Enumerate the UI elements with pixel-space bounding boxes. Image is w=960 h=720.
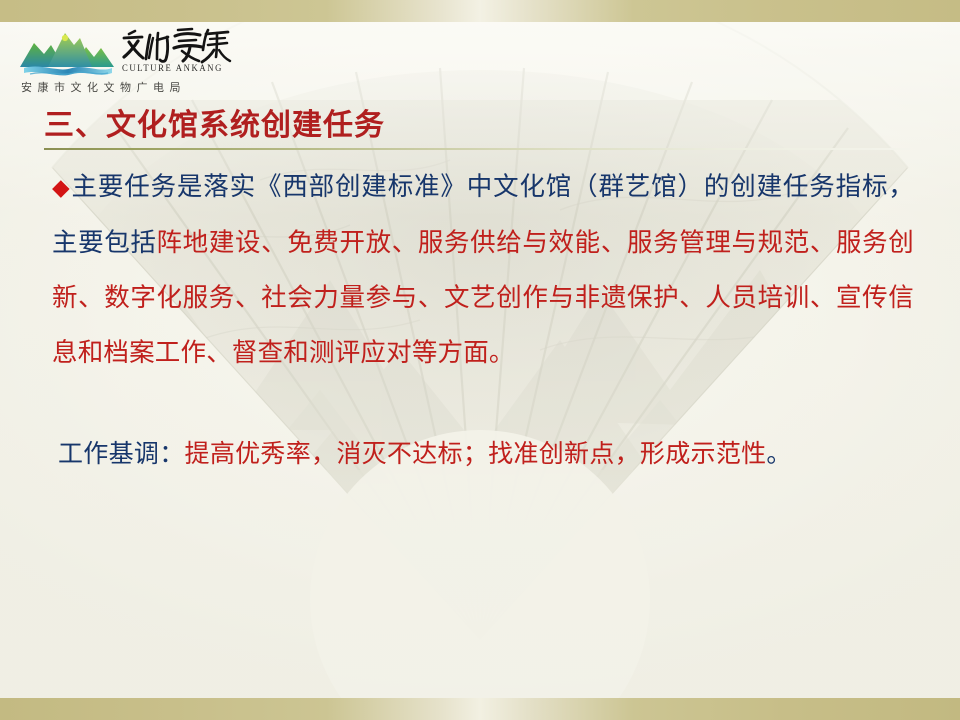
title-block: 三、文化馆系统创建任务	[44, 108, 924, 150]
body-block: ◆主要任务是落实《西部创建标准》中文化馆（群艺馆）的创建任务指标，主要包括阵地建…	[52, 160, 914, 381]
diamond-bullet-icon: ◆	[52, 175, 71, 201]
logo-latin-text: CULTURE ANKANG	[122, 63, 230, 73]
bottom-gold-band	[0, 698, 960, 720]
mountain-logo-icon	[18, 27, 118, 79]
tone-terminator: 。	[766, 439, 791, 468]
tone-label: 工作基调：	[58, 439, 185, 468]
main-paragraph: ◆主要任务是落实《西部创建标准》中文化馆（群艺馆）的创建任务指标，主要包括阵地建…	[52, 160, 914, 381]
logo-org-name: 安康市文化文物广电局	[21, 79, 231, 95]
presentation-slide: CULTURE ANKANG 安康市文化文物广电局 三、文化馆系统创建任务 ◆主…	[0, 0, 960, 720]
page-title: 三、文化馆系统创建任务	[44, 108, 924, 143]
work-tone-line: 工作基调：提高优秀率，消灭不达标；找准创新点，形成示范性。	[58, 432, 928, 476]
tone-content: 提高优秀率，消灭不达标；找准创新点，形成示范性	[185, 439, 767, 468]
title-underline	[44, 148, 910, 150]
tone-block: 工作基调：提高优秀率，消灭不达标；找准创新点，形成示范性。	[58, 432, 928, 476]
logo-calligraphy-wenhua-ankang	[122, 27, 232, 65]
paragraph-segment-tail: 等方面。	[412, 338, 515, 368]
top-gold-band	[0, 0, 960, 22]
logo: CULTURE ANKANG 安康市文化文物广电局	[18, 27, 233, 99]
